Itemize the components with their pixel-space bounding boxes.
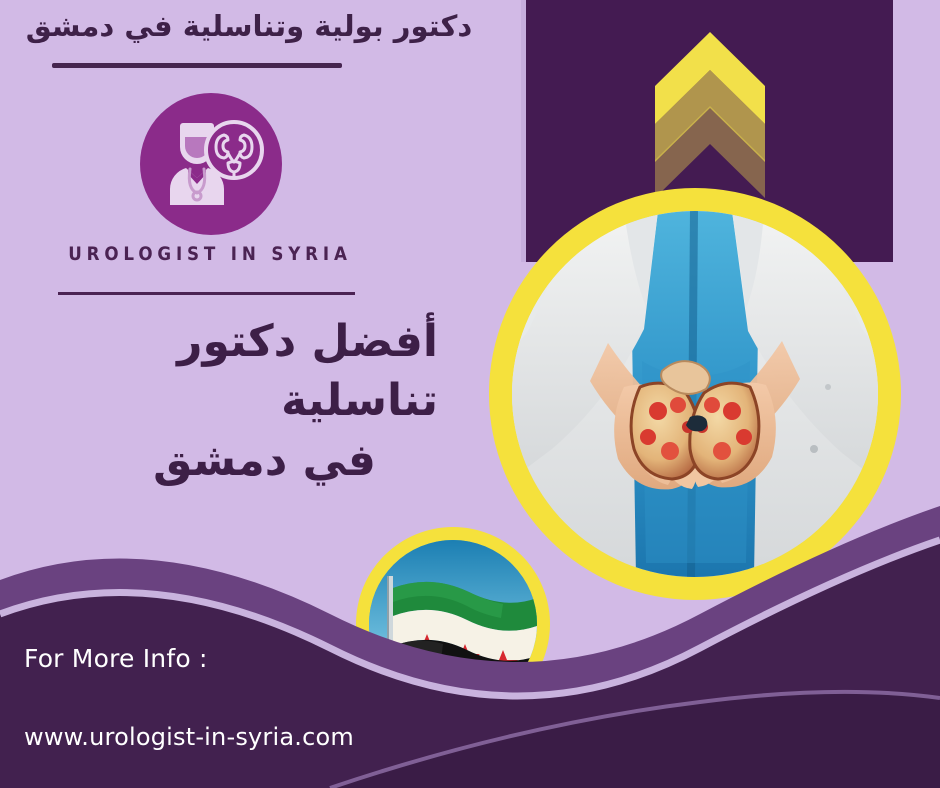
chevron-stack <box>655 18 765 198</box>
chevron-stack-svg <box>655 18 765 198</box>
page-title-line-1: أفضل دكتور تناسلية <box>18 312 438 431</box>
brand-wordmark: UROLOGIST IN SYRIA <box>25 243 395 265</box>
logo-circle-background <box>140 93 282 235</box>
page-title: أفضل دكتور تناسلية في دمشق <box>18 312 438 490</box>
brand-divider <box>58 292 355 295</box>
website-url[interactable]: www.urologist-in-syria.com <box>24 723 354 751</box>
tagline-text: دكتور بولية وتناسلية في دمشق <box>26 8 472 44</box>
more-info-label: For More Info : <box>24 644 208 673</box>
urologist-doctor-kidney-icon <box>140 93 282 235</box>
logo-mark <box>140 93 282 235</box>
page-title-line-2: في دمشق <box>18 431 438 490</box>
tagline-underline <box>52 63 342 68</box>
poster-canvas: دكتور بولية وتناسلية في دمشق <box>0 0 940 788</box>
tagline-block: دكتور بولية وتناسلية في دمشق <box>0 8 498 44</box>
